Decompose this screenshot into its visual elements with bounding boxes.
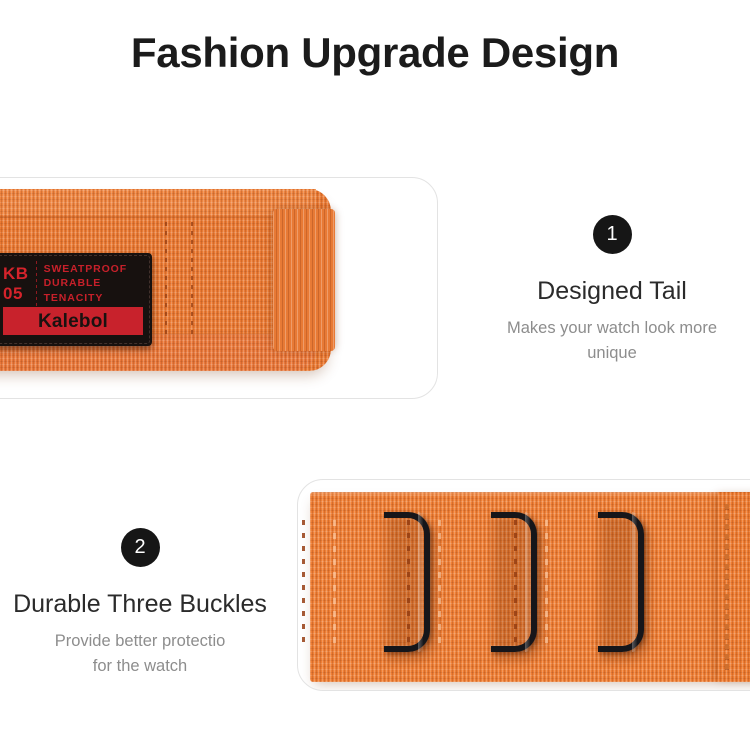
buckle-stitch-col-3a bbox=[514, 520, 517, 648]
strap-tail-end bbox=[273, 209, 335, 351]
label-claim-sweatproof: SWEATPROOF bbox=[44, 262, 127, 277]
label-model-code-line1: KB bbox=[3, 264, 29, 284]
buckle-stitch-col-1a bbox=[302, 520, 305, 648]
buckle-strap-highlight bbox=[310, 492, 750, 496]
product-photo-card-buckles bbox=[297, 479, 750, 691]
label-spec-row: KB 05 SWEATPROOF DURABLE TENACITY bbox=[3, 260, 144, 307]
buckle-loop-3 bbox=[598, 512, 644, 652]
feature-description-1-line1: Makes your watch look more bbox=[463, 316, 750, 341]
feature-description-1-line2: unique bbox=[463, 341, 750, 366]
feature-badge-2: 2 bbox=[121, 528, 160, 567]
strap-stitch-line-right-2 bbox=[191, 222, 193, 334]
feature-title-2: Durable Three Buckles bbox=[0, 589, 288, 619]
brand-name: Kalebol bbox=[38, 312, 108, 331]
label-divider bbox=[36, 261, 37, 306]
label-claim-tenacity: TENACITY bbox=[44, 291, 127, 306]
buckle-stitch-col-1b bbox=[333, 520, 336, 648]
label-model-code-line2: 05 bbox=[3, 284, 29, 304]
buckle-stitch-col-2b bbox=[438, 520, 441, 648]
product-photo-card-tail: KB 05 SWEATPROOF DURABLE TENACITY Kalebo… bbox=[0, 177, 438, 399]
label-claims: SWEATPROOF DURABLE TENACITY bbox=[44, 262, 127, 306]
buckle-stitch-col-2a bbox=[407, 520, 410, 648]
feature-title-1: Designed Tail bbox=[463, 276, 750, 306]
feature-block-durable-buckles: 2 Durable Three Buckles Provide better p… bbox=[0, 528, 288, 679]
strap-upper-band bbox=[0, 189, 316, 215]
feature-description-2: Provide better protectio for the watch bbox=[0, 629, 288, 679]
buckle-stitch-col-3b bbox=[545, 520, 548, 648]
brand-label-patch: KB 05 SWEATPROOF DURABLE TENACITY Kalebo… bbox=[0, 253, 152, 346]
label-brand-bar: Kalebol bbox=[3, 307, 143, 335]
feature-badge-1: 1 bbox=[593, 215, 632, 254]
feature-description-2-line2: for the watch bbox=[0, 654, 288, 679]
strap-fold-flap bbox=[718, 492, 750, 682]
strap-stitch-line-right bbox=[165, 222, 167, 334]
feature-description-2-line1: Provide better protectio bbox=[0, 629, 288, 654]
fold-flap-stitch bbox=[725, 504, 729, 672]
page-title: Fashion Upgrade Design bbox=[0, 29, 750, 77]
feature-description-1: Makes your watch look more unique bbox=[463, 316, 750, 366]
feature-block-designed-tail: 1 Designed Tail Makes your watch look mo… bbox=[463, 215, 750, 366]
label-claim-durable: DURABLE bbox=[44, 276, 127, 291]
label-model-code: KB 05 bbox=[3, 264, 29, 304]
